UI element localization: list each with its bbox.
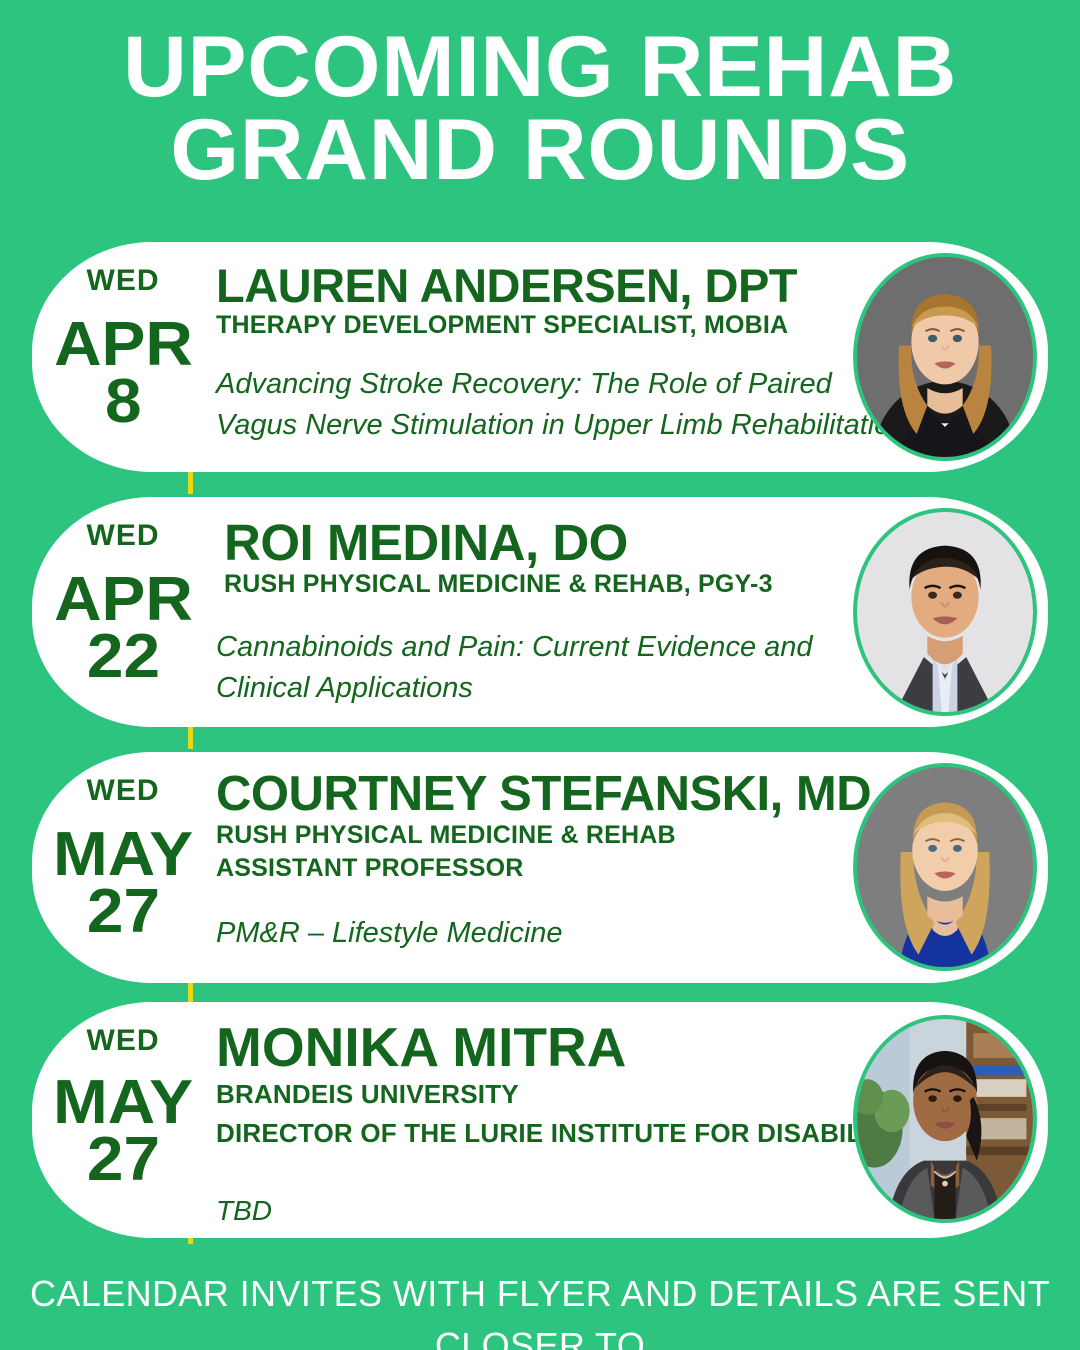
poster-title-line-1: UPCOMING REHAB [0, 26, 1080, 109]
session-date: WED MAY 27 [32, 1002, 190, 1238]
date-day: 27 [86, 1131, 159, 1190]
date-day: 22 [86, 628, 159, 687]
date-month: MAY [53, 826, 193, 883]
footer-note: CALENDAR INVITES WITH FLYER AND DETAILS … [0, 1268, 1080, 1350]
date-day-of-week: WED [87, 521, 160, 551]
session-date: WED APR 8 [32, 242, 190, 472]
poster-title-line-2: GRAND ROUNDS [0, 109, 1080, 192]
speaker-photo [853, 763, 1037, 971]
footer-note-line-1: CALENDAR INVITES WITH FLYER AND DETAILS … [0, 1268, 1080, 1350]
poster-title: UPCOMING REHAB GRAND ROUNDS [0, 26, 1080, 191]
speaker-photo [853, 508, 1037, 716]
poster-canvas: UPCOMING REHAB GRAND ROUNDS WED APR 8 LA… [0, 0, 1080, 1350]
speaker-photo [853, 1015, 1037, 1223]
speaker-photo [853, 253, 1037, 461]
portrait-lauren-andersen-icon [857, 257, 1033, 457]
date-day-of-week: WED [87, 776, 160, 806]
session-date: WED APR 22 [32, 497, 190, 727]
portrait-roi-medina-icon [857, 512, 1033, 712]
date-month: APR [54, 571, 193, 628]
session-date: WED MAY 27 [32, 752, 190, 983]
portrait-courtney-stefanski-icon [857, 767, 1033, 967]
date-day: 8 [105, 373, 142, 432]
date-day-of-week: WED [87, 266, 160, 296]
date-day-of-week: WED [87, 1026, 160, 1056]
date-day: 27 [86, 883, 159, 942]
date-month: APR [54, 316, 193, 373]
portrait-monika-mitra-icon [857, 1019, 1033, 1219]
date-month: MAY [53, 1074, 193, 1131]
